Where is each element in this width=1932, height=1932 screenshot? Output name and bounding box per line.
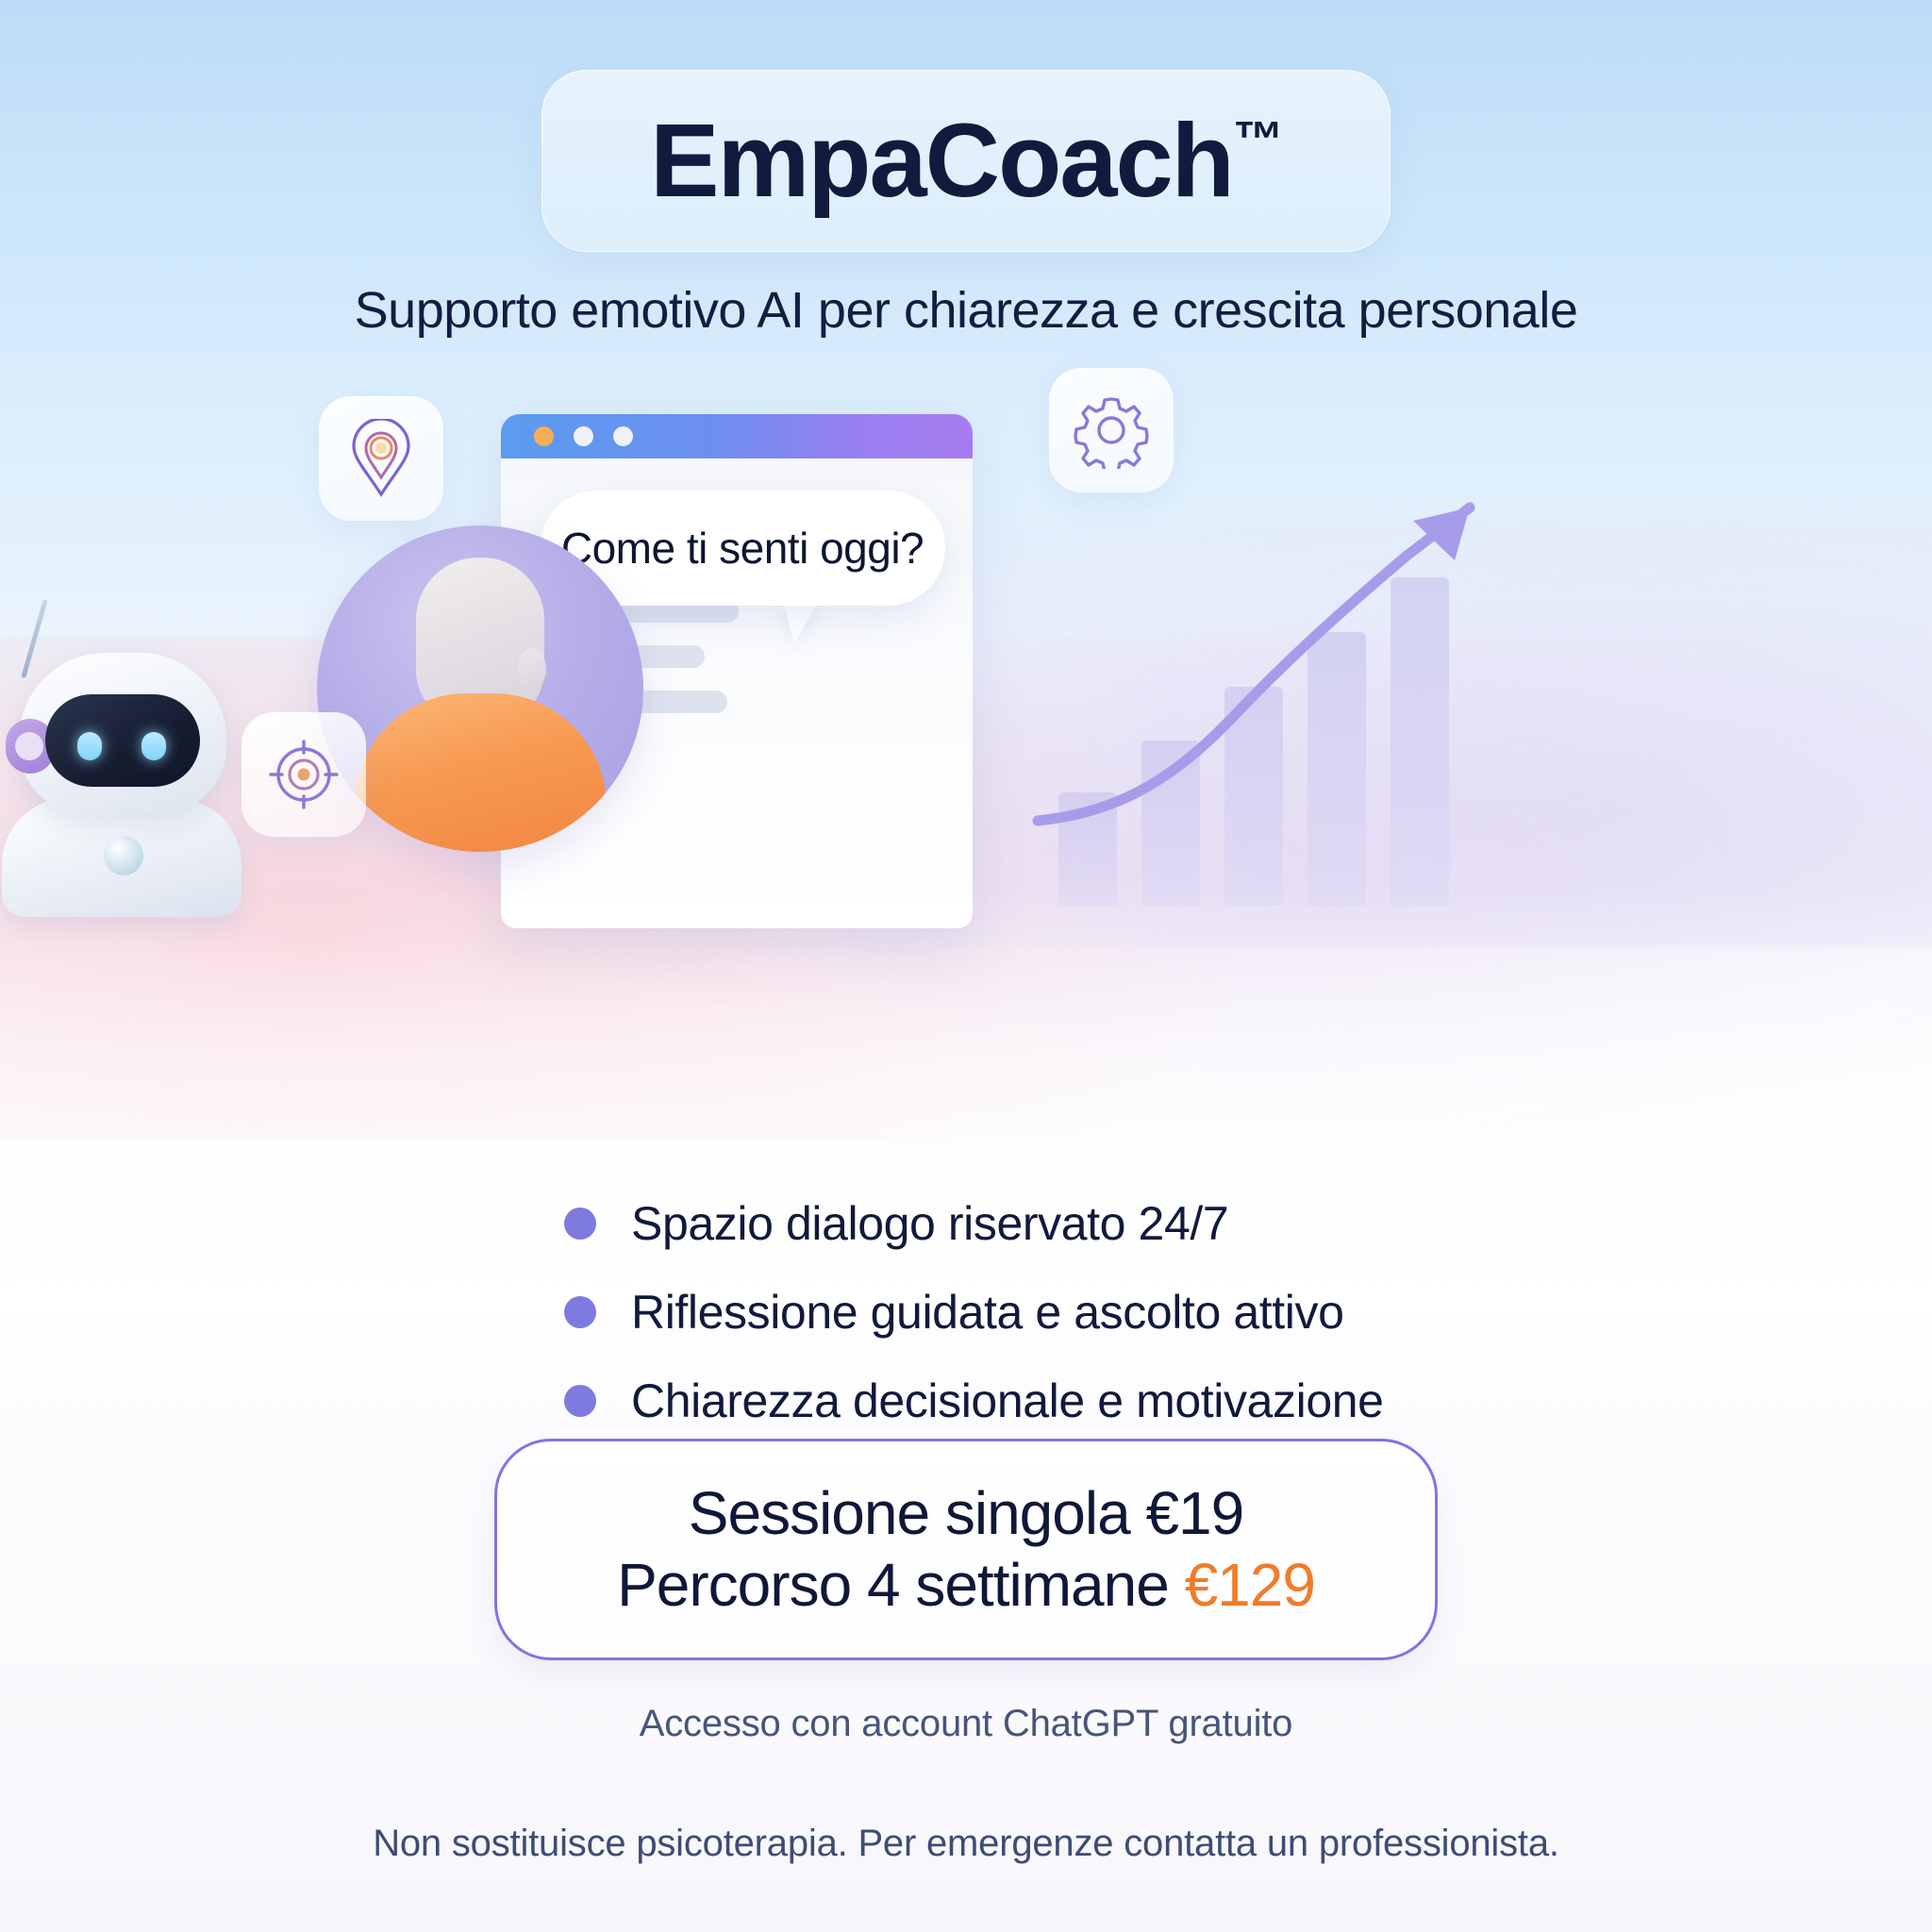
list-item: Riflessione guidata e ascolto attivo	[564, 1285, 1932, 1340]
trademark-symbol: ™	[1233, 114, 1282, 165]
location-pin-icon	[346, 419, 416, 498]
growth-arrow-icon	[1028, 462, 1566, 906]
robot-antenna	[21, 599, 48, 678]
title-pill: EmpaCoach ™	[541, 70, 1391, 252]
robot-body	[2, 798, 241, 917]
robot-chest-light-icon	[104, 836, 143, 875]
pricing-single-label: Sessione singola	[689, 1479, 1146, 1547]
feature-label: Spazio dialogo riservato 24/7	[631, 1196, 1228, 1251]
target-icon-chip[interactable]	[241, 712, 366, 837]
window-dot-light-icon[interactable]	[574, 426, 593, 446]
feature-label: Riflessione guidata e ascolto attivo	[631, 1285, 1344, 1340]
robot-eye-right-icon	[142, 732, 166, 760]
target-icon	[265, 736, 342, 813]
hero-illustration: Come ti senti oggi?	[0, 406, 1932, 1160]
growth-chart-graphic	[1028, 462, 1566, 906]
avatar-ear	[518, 648, 546, 690]
access-note: Accesso con account ChatGPT gratuito	[0, 1703, 1932, 1745]
bullet-dot-icon	[564, 1207, 596, 1240]
robot-visor	[45, 694, 200, 787]
pricing-program-label: Percorso 4 settimane	[617, 1551, 1185, 1619]
page-title-text: EmpaCoach	[650, 101, 1233, 221]
pricing-single-price: €19	[1145, 1479, 1243, 1547]
speech-bubble-text: Come ti senti oggi?	[561, 523, 924, 574]
bullet-dot-icon	[564, 1296, 596, 1328]
avatar-shirt	[354, 693, 607, 852]
robot-assistant	[0, 585, 226, 896]
bullet-dot-icon	[564, 1385, 596, 1417]
pricing-single-row: Sessione singola €19	[689, 1478, 1243, 1550]
disclaimer-text: Non sostituisce psicoterapia. Per emerge…	[0, 1823, 1932, 1865]
page-subtitle: Supporto emotivo AI per chiarezza e cres…	[0, 281, 1932, 340]
window-titlebar	[501, 414, 973, 458]
location-pin-icon-chip[interactable]	[319, 396, 443, 521]
pricing-program-price: €129	[1185, 1551, 1315, 1619]
gear-icon-chip[interactable]	[1049, 368, 1174, 492]
robot-earpiece-inner	[15, 732, 43, 760]
list-item: Spazio dialogo riservato 24/7	[564, 1196, 1932, 1251]
gear-icon	[1073, 391, 1150, 469]
robot-eye-left-icon	[77, 732, 102, 760]
pricing-program-row: Percorso 4 settimane €129	[617, 1550, 1315, 1622]
window-dot-light-icon[interactable]	[613, 426, 633, 446]
feature-list: Spazio dialogo riservato 24/7 Riflession…	[0, 1196, 1932, 1462]
list-item: Chiarezza decisionale e motivazione	[564, 1374, 1932, 1428]
page-title: EmpaCoach ™	[650, 101, 1282, 221]
feature-label: Chiarezza decisionale e motivazione	[631, 1374, 1384, 1428]
pricing-box[interactable]: Sessione singola €19 Percorso 4 settiman…	[494, 1439, 1438, 1660]
window-dot-amber-icon[interactable]	[534, 426, 554, 446]
